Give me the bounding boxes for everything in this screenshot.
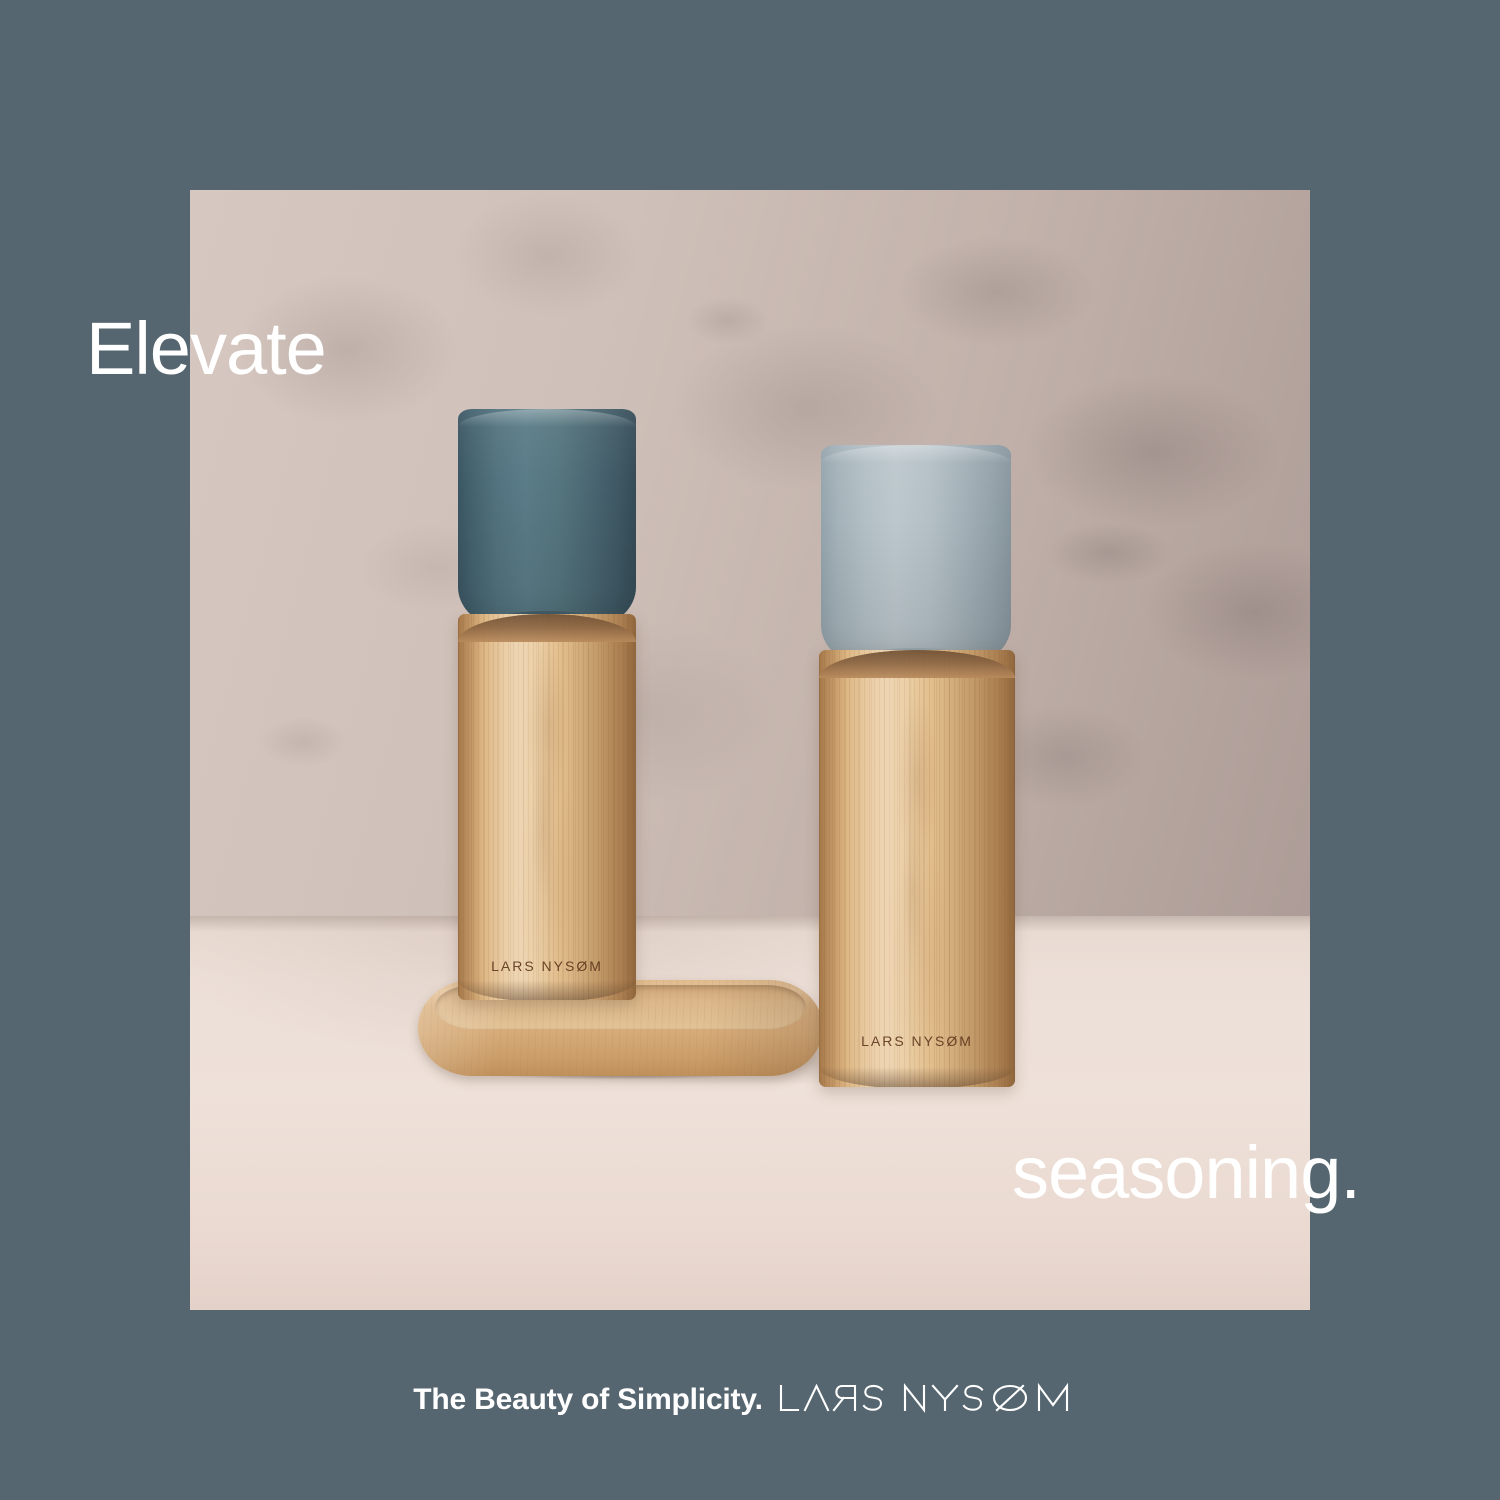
headline-line-1: Elevate xyxy=(86,312,326,386)
photo-background-wall xyxy=(190,190,1310,916)
advertisement-canvas: LARS NYSØM LARS NYSØM Elevate seasoning.… xyxy=(0,0,1500,1500)
brand-wordmark-icon xyxy=(777,1380,1087,1420)
footer-bar: The Beauty of Simplicity. xyxy=(0,1372,1500,1428)
cap-shading xyxy=(458,409,636,627)
wood-cylinder-shading xyxy=(458,614,636,1000)
photo-table-surface xyxy=(190,916,1310,1310)
headline-line-2: seasoning. xyxy=(1012,1136,1360,1210)
salt-mill-light-cap xyxy=(821,445,1011,665)
pepper-mill-dark-body: LARS NYSØM xyxy=(458,614,636,1000)
salt-mill-light-body: LARS NYSØM xyxy=(819,650,1015,1087)
footer-tagline: The Beauty of Simplicity. xyxy=(413,1383,763,1417)
cap-shading xyxy=(821,445,1011,665)
brand-engraving-left: LARS NYSØM xyxy=(458,958,636,974)
pepper-mill-dark-cap xyxy=(458,409,636,627)
wood-cylinder-shading xyxy=(819,650,1015,1087)
brand-engraving-right: LARS NYSØM xyxy=(819,1033,1015,1049)
lars-nysom-logotype xyxy=(777,1380,1087,1420)
wall-table-seam xyxy=(190,916,1310,932)
